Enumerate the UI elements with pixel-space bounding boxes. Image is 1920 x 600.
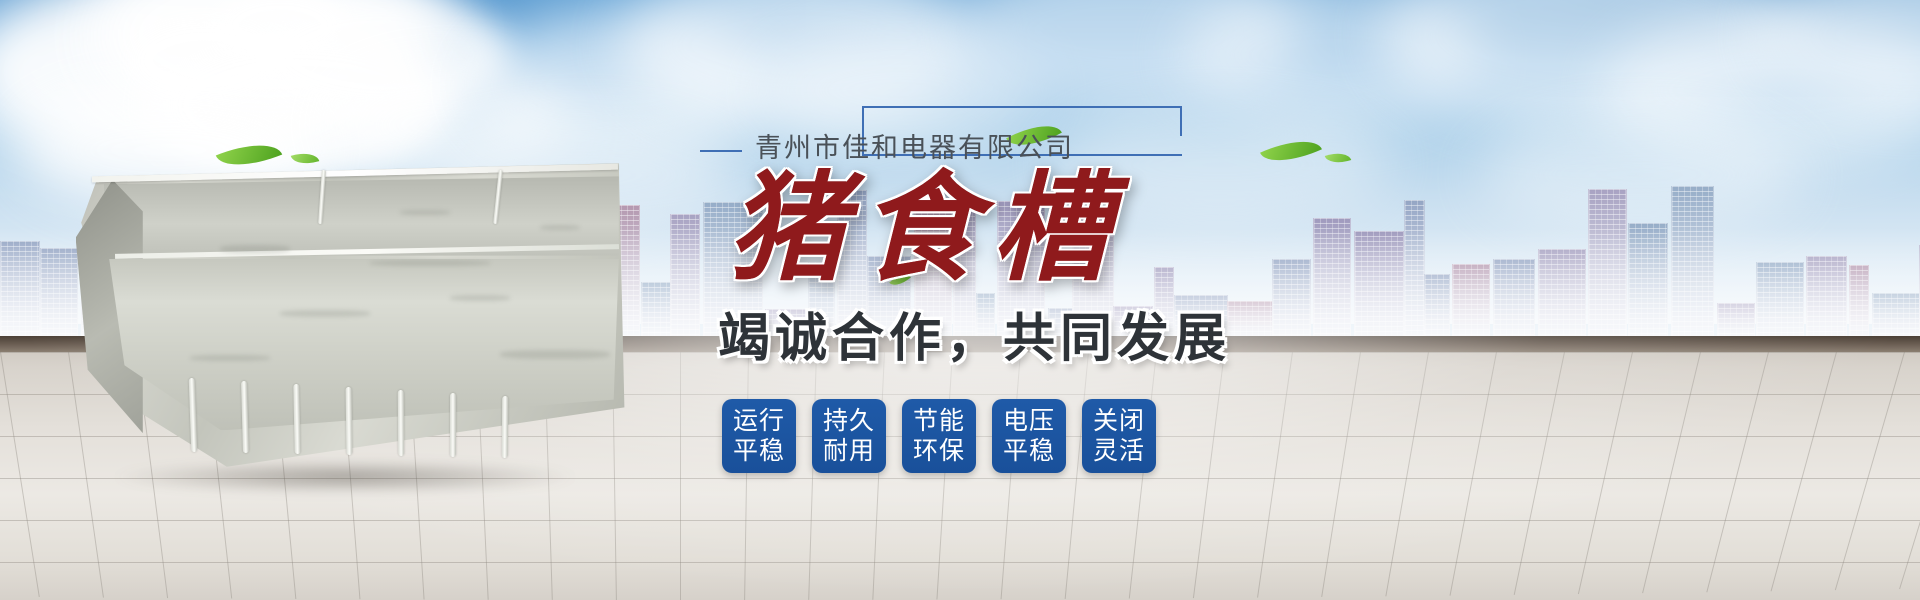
skyline-building xyxy=(1717,303,1755,336)
skyline-building xyxy=(1872,293,1920,336)
skyline-building xyxy=(1588,189,1627,336)
feature-badge-3[interactable]: 节能环保 xyxy=(902,399,976,473)
trough-mark xyxy=(220,245,290,253)
badge-line-2: 平稳 xyxy=(1003,436,1055,466)
skyline-building xyxy=(1849,265,1869,336)
badge-line-2: 平稳 xyxy=(733,436,785,466)
skyline-building xyxy=(1806,256,1847,336)
company-name-row: 青州市佳和电器有限公司 xyxy=(700,100,1400,158)
feature-badge-list: 运行平稳持久耐用节能环保电压平稳关闭灵活 xyxy=(722,399,1400,473)
trough-mark xyxy=(400,210,450,215)
product-shadow xyxy=(110,460,580,494)
trough-front-slope xyxy=(109,259,619,431)
badge-line-1: 关闭 xyxy=(1093,406,1145,436)
skyline-building xyxy=(0,241,40,336)
trough-bar xyxy=(398,390,404,456)
trough-mark xyxy=(450,295,510,301)
trough-mark xyxy=(500,350,610,359)
skyline-building xyxy=(1538,249,1586,336)
decorative-dash xyxy=(700,150,742,152)
feature-badge-2[interactable]: 持久耐用 xyxy=(812,399,886,473)
badge-line-2: 耐用 xyxy=(823,436,875,466)
product-image-feeder-trough xyxy=(70,150,630,480)
badge-line-2: 环保 xyxy=(913,436,965,466)
copy-block: 青州市佳和电器有限公司 猪食槽 竭诚合作，共同发展 运行平稳持久耐用节能环保电压… xyxy=(700,100,1400,473)
skyline-building xyxy=(641,282,671,336)
trough-mark xyxy=(540,225,580,230)
headline-title: 猪食槽 xyxy=(728,166,1400,290)
trough-mark xyxy=(370,260,490,266)
skyline-building xyxy=(1628,223,1668,336)
skyline-building xyxy=(1424,274,1450,336)
decorative-frame-right-tick xyxy=(1180,106,1182,136)
badge-line-1: 持久 xyxy=(823,406,875,436)
skyline-building xyxy=(670,214,700,336)
trough-mark xyxy=(280,310,370,317)
trough-bar xyxy=(502,396,508,458)
promo-banner: 青州市佳和电器有限公司 猪食槽 竭诚合作，共同发展 运行平稳持久耐用节能环保电压… xyxy=(0,0,1920,600)
trough-bar xyxy=(450,393,456,457)
skyline-building xyxy=(1493,259,1535,336)
trough-bar xyxy=(346,387,353,455)
feature-badge-1[interactable]: 运行平稳 xyxy=(722,399,796,473)
badge-line-1: 节能 xyxy=(913,406,965,436)
skyline-building xyxy=(1756,262,1804,336)
skyline-building xyxy=(1671,186,1714,336)
badge-line-2: 灵活 xyxy=(1093,436,1145,466)
subheadline-slogan: 竭诚合作，共同发展 xyxy=(718,296,1400,371)
badge-line-1: 电压 xyxy=(1003,406,1055,436)
skyline-building xyxy=(1404,200,1425,336)
feature-badge-5[interactable]: 关闭灵活 xyxy=(1082,399,1156,473)
skyline-building xyxy=(1452,264,1490,336)
badge-line-1: 运行 xyxy=(733,406,785,436)
feature-badge-4[interactable]: 电压平稳 xyxy=(992,399,1066,473)
trough-mark xyxy=(190,355,270,361)
trough-inner-back-wall xyxy=(104,176,619,255)
